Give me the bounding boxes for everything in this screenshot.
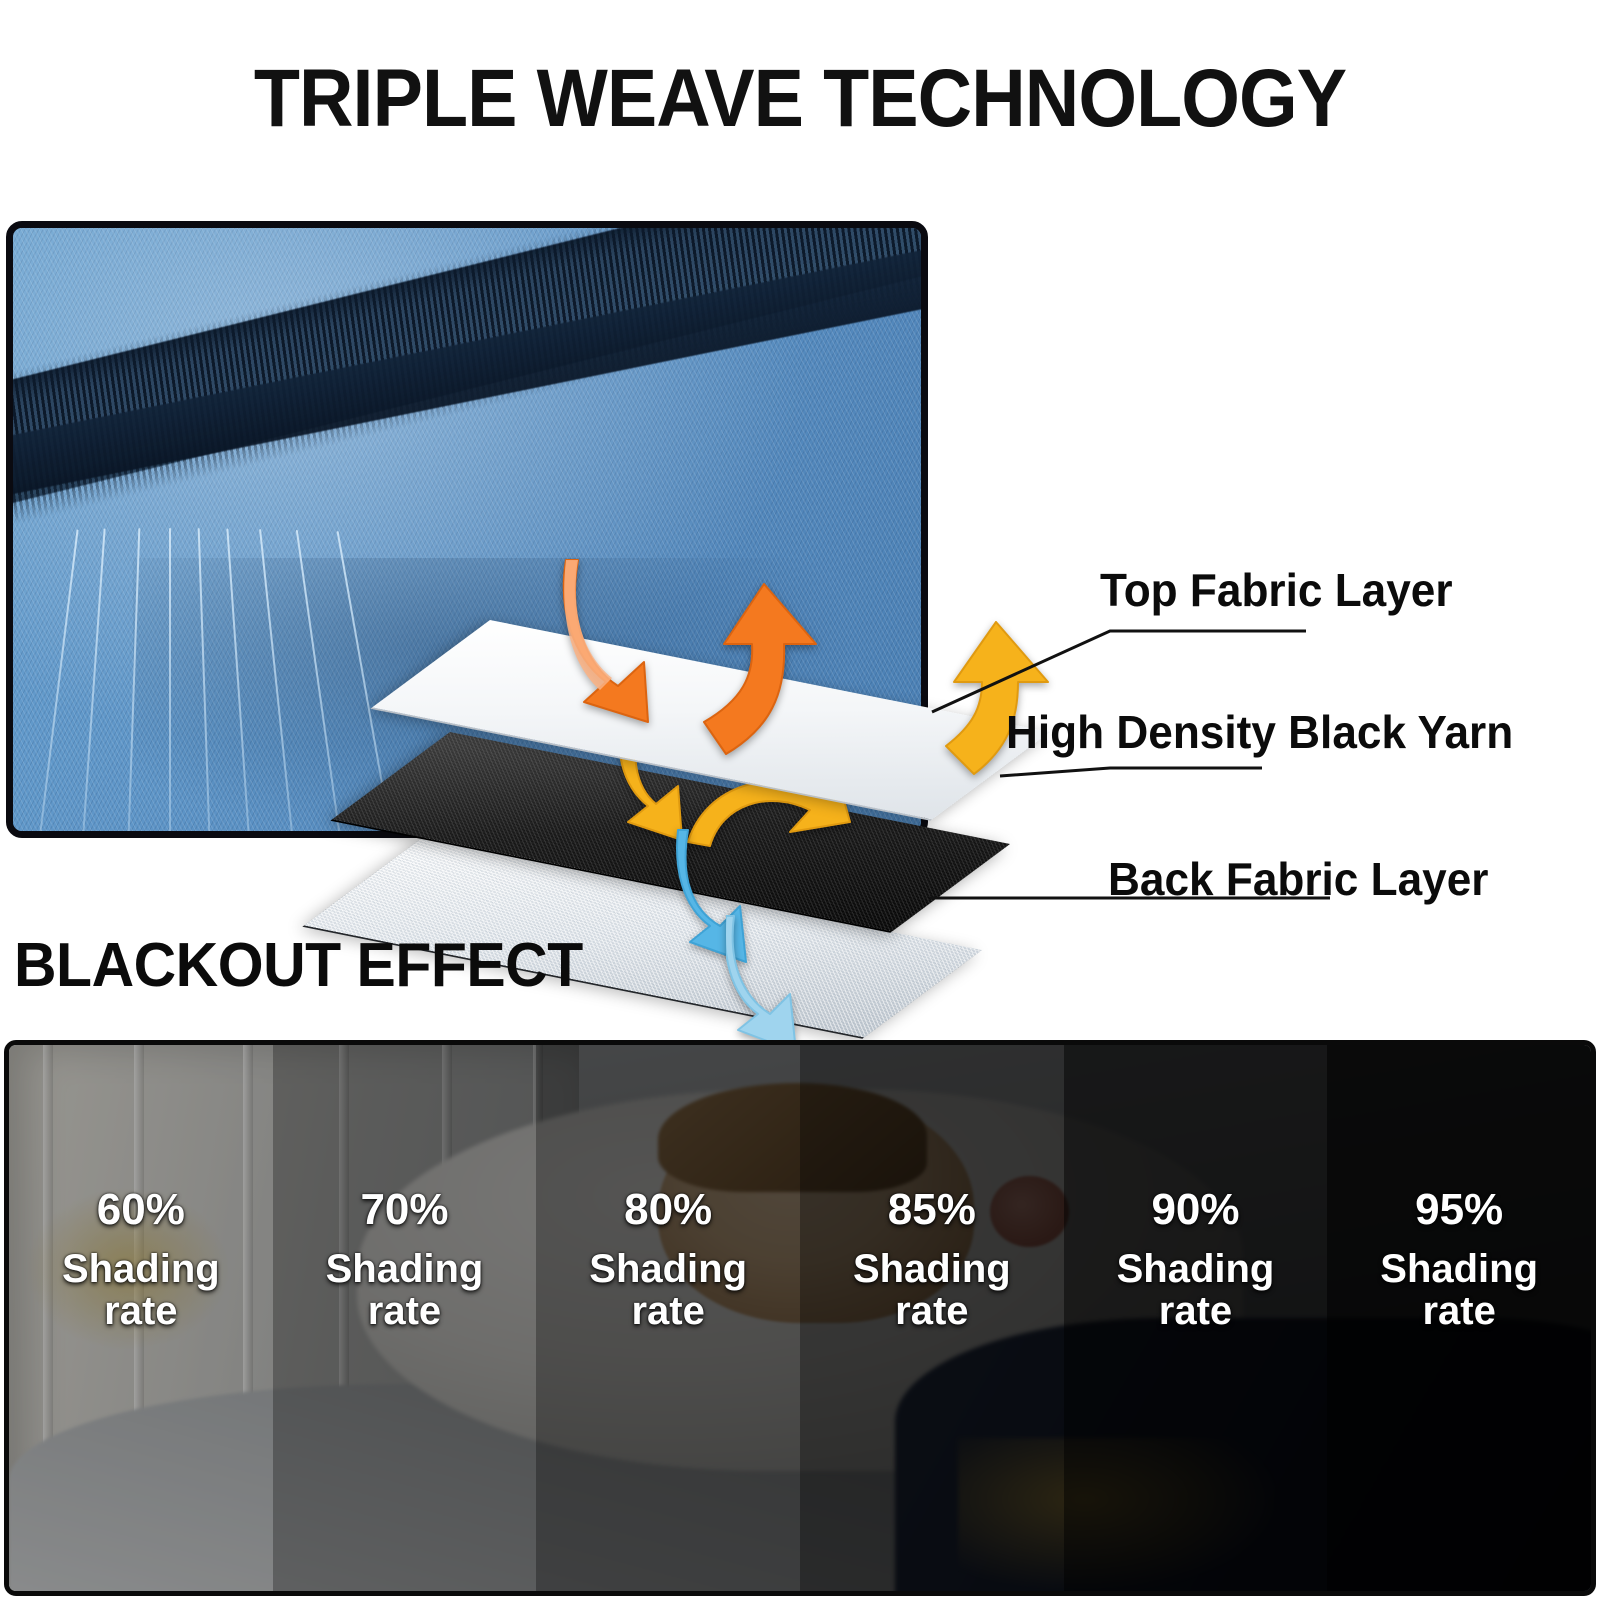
shading-caption: 60%Shadingrate [9, 1187, 273, 1332]
shading-caption: 95%Shadingrate [1327, 1187, 1591, 1332]
shading-segment-70: 70%Shadingrate [273, 1045, 537, 1591]
label-high-density-black-yarn: High Density Black Yarn [1006, 705, 1513, 759]
shading-rate-line2: rate [9, 1290, 273, 1332]
shading-segment-85: 85%Shadingrate [800, 1045, 1064, 1591]
shading-rate-line2: rate [1327, 1290, 1591, 1332]
shading-segment-90: 90%Shadingrate [1064, 1045, 1328, 1591]
shading-segment-95: 95%Shadingrate [1327, 1045, 1591, 1591]
shading-segment-60: 60%Shadingrate [9, 1045, 273, 1591]
shading-caption: 80%Shadingrate [536, 1187, 800, 1332]
shading-rate-line1: Shading [1327, 1248, 1591, 1290]
shading-rate-line1: Shading [1064, 1248, 1328, 1290]
blackout-effect-heading: BLACKOUT EFFECT [14, 930, 583, 1001]
shading-percent: 85% [800, 1187, 1064, 1234]
blackout-comparison-strip: 60%Shadingrate70%Shadingrate80%Shadingra… [4, 1040, 1596, 1596]
shading-rate-line1: Shading [536, 1248, 800, 1290]
shading-rate-line2: rate [536, 1290, 800, 1332]
shading-caption: 70%Shadingrate [273, 1187, 537, 1332]
shading-rate-line2: rate [1064, 1290, 1328, 1332]
label-back-fabric-layer: Back Fabric Layer [1108, 852, 1488, 906]
shading-percent: 70% [273, 1187, 537, 1234]
shading-caption: 85%Shadingrate [800, 1187, 1064, 1332]
shading-percent: 90% [1064, 1187, 1328, 1234]
shading-caption: 90%Shadingrate [1064, 1187, 1328, 1332]
shading-percent: 60% [9, 1187, 273, 1234]
label-top-fabric-layer: Top Fabric Layer [1100, 563, 1453, 617]
shading-rate-line2: rate [800, 1290, 1064, 1332]
shading-rate-line1: Shading [800, 1248, 1064, 1290]
shading-segment-80: 80%Shadingrate [536, 1045, 800, 1591]
shading-rate-line2: rate [273, 1290, 537, 1332]
shading-percent: 95% [1327, 1187, 1591, 1234]
shading-rate-line1: Shading [273, 1248, 537, 1290]
shading-rate-line1: Shading [9, 1248, 273, 1290]
shading-percent: 80% [536, 1187, 800, 1234]
